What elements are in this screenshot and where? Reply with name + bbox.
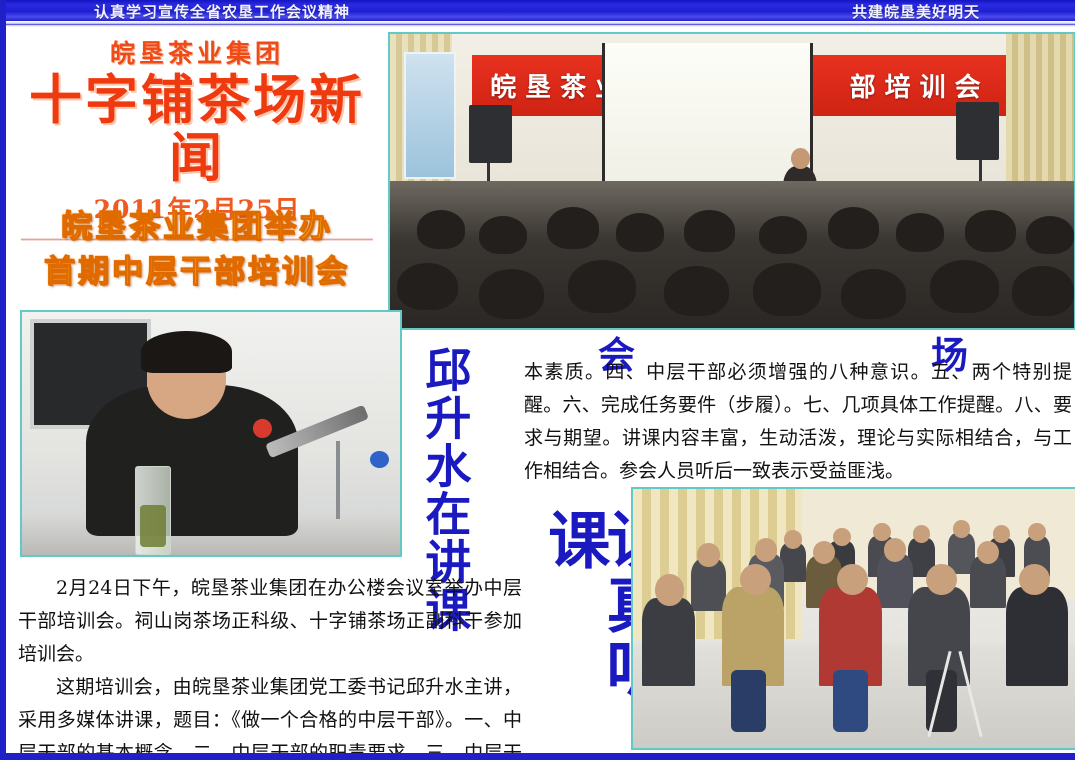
- audience-member: [642, 598, 695, 686]
- article-left-paragraph-1: 2月24日下午，皖垦茶业集团在办公楼会议室举办中层干部培训会。祠山岗茶场正科级、…: [18, 572, 522, 671]
- header-underline: [6, 21, 1075, 27]
- photo-lecture-hall: 皖垦茶业 部培训会: [388, 32, 1075, 330]
- header-slogan-right: 共建皖垦美好明天: [852, 1, 980, 21]
- tea-cup: [135, 466, 171, 555]
- loudspeaker-right: [956, 102, 999, 161]
- article-left-paragraph-2: 这期培训会，由皖垦茶业集团党工委书记邱升水主讲，采用多媒体讲课，题目：《做一个合…: [18, 671, 522, 760]
- header-slogan-left: 认真学习宣传全省农垦工作会议精神: [94, 1, 350, 21]
- article-headline: 皖垦茶业集团举办 首期中层干部培训会: [12, 205, 382, 295]
- photo-speaker-portrait: [20, 310, 402, 557]
- camera-tripod: [926, 650, 984, 738]
- article-right-column: 本素质。四、中层干部必须增强的八种意识。五、两个特别提醒。六、完成任务要件（步履…: [524, 356, 1072, 488]
- newsletter-page: 认真学习宣传全省农垦工作会议精神 共建皖垦美好明天 皖垦茶业集团 十字铺茶场新闻…: [0, 0, 1075, 760]
- article-right-paragraph: 本素质。四、中层干部必须增强的八种意识。五、两个特别提醒。六、完成任务要件（步履…: [524, 356, 1072, 488]
- loudspeaker-left: [469, 105, 512, 164]
- article-left-column: 2月24日下午，皖垦茶业集团在办公楼会议室举办中层干部培训会。祠山岗茶场正科级、…: [18, 572, 522, 760]
- audience-member: [1006, 587, 1068, 685]
- masthead-paper-title: 十字铺茶场新闻: [12, 71, 382, 188]
- headline-line-1: 皖垦茶业集团举办: [12, 205, 382, 250]
- masthead-group-name: 皖垦茶业集团: [12, 40, 382, 69]
- projector-screen: [602, 43, 813, 187]
- photo-banner-right: 部培训会: [850, 67, 990, 104]
- headline-line-2: 首期中层干部培训会: [12, 250, 382, 295]
- photo-audience: [631, 487, 1075, 750]
- running-header: 认真学习宣传全省农垦工作会议精神 共建皖垦美好明天: [6, 0, 1075, 21]
